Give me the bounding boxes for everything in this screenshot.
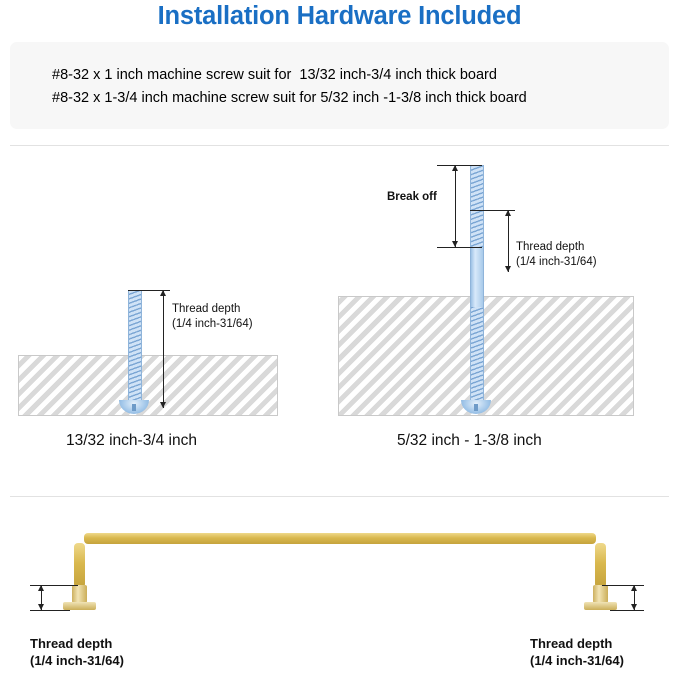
caption-right: 5/32 inch - 1-3/8 inch (397, 432, 542, 450)
handle-top-bar (84, 533, 596, 544)
spec-line-1: #8-32 x 1 inch machine screw suit for 13… (52, 67, 497, 83)
screw-left-head-slot (132, 404, 136, 411)
handle-left-base (63, 602, 96, 610)
screw-right-head-slot (474, 404, 478, 411)
dim-right-vertical-line (508, 210, 509, 272)
page-title: Installation Hardware Included (0, 2, 679, 31)
dim-breakoff-label: Break off (387, 190, 437, 204)
dim-handle-left-arrow-up (38, 585, 44, 591)
screw-right-upper-thread-pattern (471, 165, 483, 247)
dim-left-vertical-line (163, 290, 164, 408)
divider-top (10, 145, 669, 146)
dim-breakoff-arrow-up (452, 165, 458, 171)
handle-left-leg (74, 543, 85, 588)
dim-right-arrow-down (505, 266, 511, 272)
board-right (338, 296, 634, 416)
dim-breakoff-vertical-line (455, 165, 456, 247)
dim-left-thread-depth-line2: (1/4 inch-31/64) (172, 317, 253, 331)
handle-right-leg (595, 543, 606, 588)
dim-breakoff-arrow-down (452, 241, 458, 247)
handle-right-post (593, 585, 608, 603)
dim-breakoff-tick-bottom (437, 247, 482, 248)
screw-right-plain-shaft (470, 247, 484, 307)
handle-right-base (584, 602, 617, 610)
screw-left-threads (129, 290, 141, 407)
dim-left-tick-top (128, 290, 170, 291)
spec-line-2: #8-32 x 1-3/4 inch machine screw suit fo… (52, 90, 527, 106)
screw-left-shaft (128, 290, 142, 407)
dim-breakoff-tick-top (437, 165, 482, 166)
screw-right-lower-thread-pattern (471, 307, 483, 407)
handle-left-label-line2: (1/4 inch-31/64) (30, 653, 124, 670)
dim-handle-right-arrow-up (631, 585, 637, 591)
handle-left-post (72, 585, 87, 603)
dim-handle-right-tick-bottom (610, 610, 644, 611)
dim-handle-left-arrow-down (38, 604, 44, 610)
handle-right-label-line2: (1/4 inch-31/64) (530, 653, 624, 670)
dim-right-arrow-up (505, 210, 511, 216)
dim-right-thread-depth-line1: Thread depth (516, 240, 584, 254)
screw-right-upper-threads (470, 165, 484, 247)
caption-left: 13/32 inch-3/4 inch (66, 432, 197, 450)
dim-handle-right-tick-top (602, 585, 644, 586)
divider-bottom (10, 496, 669, 497)
spec-box (10, 42, 669, 129)
handle-right-label-line1: Thread depth (530, 636, 612, 653)
handle-left-label-line1: Thread depth (30, 636, 112, 653)
dim-handle-left-tick-bottom (30, 610, 70, 611)
dim-left-arrow-down (160, 402, 166, 408)
dim-left-thread-depth-line1: Thread depth (172, 302, 240, 316)
dim-right-thread-depth-line2: (1/4 inch-31/64) (516, 255, 597, 269)
dim-handle-right-arrow-down (631, 604, 637, 610)
screw-right-lower-threads (470, 307, 484, 407)
board-left (18, 355, 278, 416)
